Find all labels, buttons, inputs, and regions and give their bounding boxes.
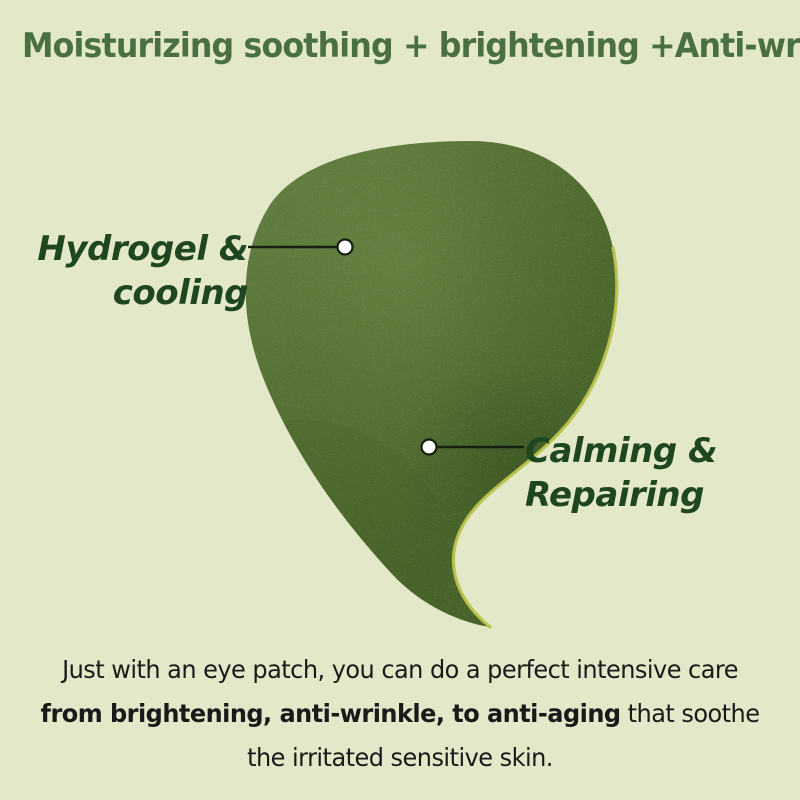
callout-dot-calming[interactable] — [422, 440, 437, 455]
patch-body — [246, 141, 617, 627]
callout-label-calming-repairing: Calming & Repairing — [525, 430, 795, 517]
body-line-3: the irritated sensitive skin. — [16, 736, 784, 780]
body-line-2-tail: that soothe — [621, 699, 760, 728]
body-line-2: from brightening, anti-wrinkle, to anti-… — [16, 692, 784, 736]
body-emphasis: from brightening, anti-wrinkle, to anti-… — [41, 699, 621, 728]
body-copy: Just with an eye patch, you can do a per… — [16, 648, 784, 780]
patch-grain-texture — [230, 130, 630, 640]
body-line-1: Just with an eye patch, you can do a per… — [16, 648, 784, 692]
callout-label-hydrogel-cooling: Hydrogel & cooling — [0, 228, 248, 315]
product-infographic: Moisturizing soothing + brightening +Ant… — [0, 0, 800, 800]
patch-sheen — [230, 130, 630, 640]
callout-dot-hydrogel[interactable] — [338, 240, 353, 255]
page-title: Moisturizing soothing + brightening +Ant… — [22, 26, 778, 65]
